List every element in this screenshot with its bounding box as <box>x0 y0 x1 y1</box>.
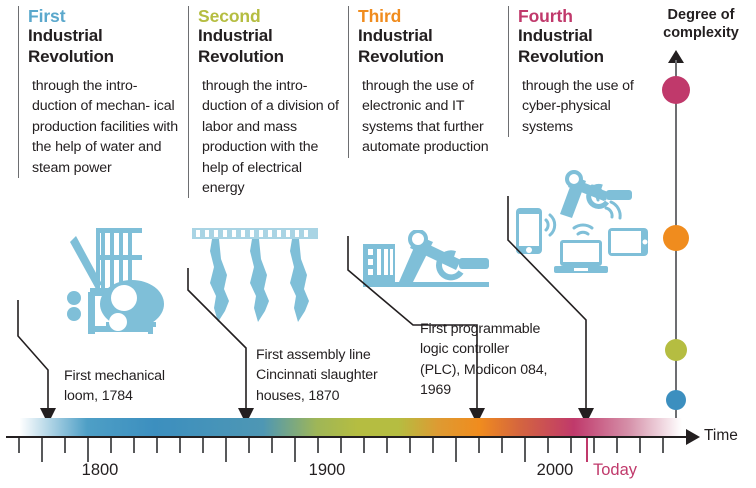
tick-minor <box>639 438 641 453</box>
tick-minor <box>340 438 342 453</box>
dot-first <box>666 390 686 410</box>
tick-minor <box>248 438 250 453</box>
tick-minor <box>133 438 135 453</box>
tick-minor <box>616 438 618 453</box>
tick-minor <box>18 438 20 453</box>
tick-major <box>294 438 296 462</box>
dot-second <box>665 339 687 361</box>
tick-minor <box>478 438 480 453</box>
time-axis-label: Time <box>704 427 738 445</box>
column-heading-first-line1: Industrial <box>28 26 184 47</box>
infographic-industrial-revolutions: First Industrial Revolution through the … <box>0 0 756 488</box>
tick-minor <box>156 438 158 453</box>
column-ordinal-first: First <box>28 6 184 26</box>
time-gradient-band <box>6 418 682 436</box>
tick-minor <box>386 438 388 453</box>
dot-third <box>663 225 689 251</box>
tick-major <box>225 438 227 462</box>
complexity-axis-label-line1: Degree of <box>648 6 754 24</box>
tick-minor <box>570 438 572 453</box>
callout-first-loom: First mechanical loom, 1784 <box>64 366 244 407</box>
column-heading-first-line2: Revolution <box>28 47 184 68</box>
tick-minor <box>179 438 181 453</box>
tick-minor <box>271 438 273 453</box>
complexity-axis-label-line2: complexity <box>648 24 754 42</box>
column-heading-second-line2: Revolution <box>198 47 346 68</box>
column-heading-third-line2: Revolution <box>358 47 506 68</box>
dot-fourth <box>662 76 690 104</box>
column-fourth-industrial-revolution: Fourth Industrial Revolution through the… <box>508 6 648 137</box>
callout-plc: First programmable logic controller (PLC… <box>420 319 610 401</box>
tick-major <box>455 438 457 462</box>
time-label-2000: 2000 <box>537 461 574 480</box>
mechanical-loom-icon <box>62 226 172 338</box>
tick-minor <box>662 438 664 453</box>
column-body-second: through the intro- duction of a division… <box>198 76 346 198</box>
tick-major <box>41 438 43 462</box>
time-label-today: Today <box>593 461 637 480</box>
column-body-fourth: through the use of cyber-physical system… <box>518 76 648 137</box>
column-ordinal-third: Third <box>358 6 506 26</box>
column-third-industrial-revolution: Third Industrial Revolution through the … <box>348 6 506 158</box>
column-ordinal-fourth: Fourth <box>518 6 648 26</box>
tick-minor <box>363 438 365 453</box>
column-heading-fourth-line1: Industrial <box>518 26 648 47</box>
robot-arm-plc-icon <box>363 230 498 292</box>
cyber-physical-systems-icon <box>512 168 652 276</box>
tick-minor <box>202 438 204 453</box>
column-heading-fourth-line2: Revolution <box>518 47 648 68</box>
tick-minor <box>409 438 411 453</box>
column-first-industrial-revolution: First Industrial Revolution through the … <box>18 6 184 178</box>
column-ordinal-second: Second <box>198 6 346 26</box>
tick-today-marker <box>586 438 588 462</box>
assembly-line-icon <box>192 228 318 326</box>
column-heading-second-line1: Industrial <box>198 26 346 47</box>
tick-minor <box>317 438 319 453</box>
tick-minor <box>432 438 434 453</box>
column-second-industrial-revolution: Second Industrial Revolution through the… <box>188 6 346 198</box>
column-body-third: through the use of electronic and IT sys… <box>358 76 506 158</box>
tick-major-2000 <box>524 438 526 462</box>
tick-minor <box>64 438 66 453</box>
time-label-1800: 1800 <box>82 461 119 480</box>
tick-minor <box>593 438 595 453</box>
time-label-1900: 1900 <box>309 461 346 480</box>
tick-minor <box>547 438 549 453</box>
tick-minor <box>110 438 112 453</box>
column-body-first: through the intro- duction of mechan- ic… <box>28 76 184 178</box>
tick-minor <box>501 438 503 453</box>
time-axis-arrowhead <box>686 429 700 445</box>
complexity-axis-label: Degree of complexity <box>648 6 754 42</box>
tick-major-1800 <box>87 438 89 462</box>
column-heading-third-line1: Industrial <box>358 26 506 47</box>
callout-assembly-line: First assembly line Cincinnati slaughter… <box>256 345 436 406</box>
